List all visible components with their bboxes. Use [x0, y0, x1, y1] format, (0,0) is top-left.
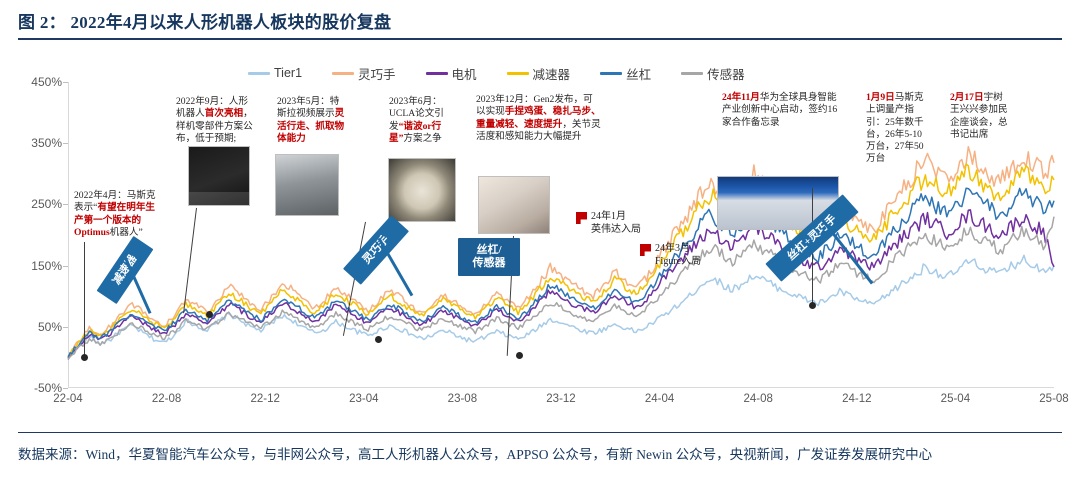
flag-label-line: Figure入局 [655, 255, 701, 268]
leader-dot-24-11 [809, 302, 816, 309]
photo-gen2-hand [478, 176, 550, 234]
annotation-highlight: 重量减轻、速度提升 [476, 119, 562, 130]
annotation-span: 华为全球具身智能 [760, 92, 837, 103]
annotation-line: 布，低于预期; [176, 133, 276, 145]
x-axis-tick-label: 25-08 [1039, 393, 1068, 405]
annotation-line: 重量减轻、速度提升，关节灵 [476, 119, 604, 131]
flag-label-line: 英伟达入局 [591, 223, 641, 236]
annotation-2023-12: 2023年12月：Gen2发布，可 以实现手捏鸡蛋、稳扎马步、 重量减轻、速度提… [476, 94, 604, 143]
y-axis-tick-label: 450% [31, 75, 62, 89]
legend-item-丝杠[interactable]: 丝杠 [600, 64, 651, 83]
annotation-highlight: Optimus [74, 227, 110, 238]
annotation-line: 引：25年数千 [866, 117, 936, 129]
flag-label-line: 24年1月 [591, 210, 641, 223]
y-axis-tick-mark [63, 388, 68, 389]
annotation-line: 2月17日宇树 [950, 92, 1030, 104]
x-axis-tick-label: 23-12 [546, 393, 575, 405]
annotation-highlight: 24年11月 [722, 92, 760, 103]
leader-line-2022-04 [84, 242, 85, 356]
annotation-line: 万台，27年50 [866, 141, 936, 153]
source-note: 数据来源：Wind，华夏智能汽车公众号，与非网公众号，高工人形机器人公众号，AP… [18, 443, 1062, 467]
legend-item-灵巧手[interactable]: 灵巧手 [332, 64, 396, 83]
series-line-电机 [68, 210, 1054, 360]
x-axis-tick-label: 22-04 [53, 393, 82, 405]
annotation-highlight: 有望在明年生 [97, 202, 155, 213]
annotation-highlight: 星” [389, 133, 403, 144]
annotation-line: 2022年4月：马斯克 [74, 190, 182, 202]
annotation-line: 家合作备忘录 [722, 117, 854, 129]
annotation-highlight: 手捏鸡蛋、稳扎马步、 [505, 106, 601, 117]
annotation-line: 样机零部件方案公 [176, 121, 276, 133]
y-axis-tick-label: 50% [38, 320, 62, 334]
annotation-line: Optimus机器人” [74, 227, 182, 239]
series-line-丝杠 [68, 188, 1054, 357]
annotation-line: 书记出席 [950, 129, 1030, 141]
page-title: 图 2： 2022年4月以来人形机器人板块的股价复盘 [18, 8, 1062, 33]
x-axis-tick-label: 22-12 [250, 393, 279, 405]
photo-caption-strip [189, 192, 249, 205]
callout-label-line: 传感器 [473, 257, 506, 270]
annotation-2022-04: 2022年4月：马斯克 表示“有望在明年生 产第一个版本的 Optimus机器人… [74, 190, 182, 239]
annotation-highlight: 1月9日 [866, 92, 895, 103]
annotation-span: 机器人 [176, 108, 205, 119]
y-axis-tick-label: 150% [31, 259, 62, 273]
annotation-highlight: 体能力 [277, 133, 373, 145]
leader-dot-2022-09 [206, 311, 213, 318]
annotation-line: 24年11月华为全球具身智能 [722, 92, 854, 104]
annotation-line: 发“谐波or行 [389, 121, 485, 133]
annotation-line: 机器人首次亮相， [176, 108, 276, 120]
annotation-line: 台，26年5-10 [866, 129, 936, 141]
photo-optimus-reveal [188, 146, 250, 206]
legend-label: 丝杠 [626, 64, 651, 83]
legend-swatch-icon [507, 72, 529, 75]
callout-screw-sensor: 丝杠/ 传感器 [458, 238, 520, 276]
annotation-highlight: 活行走、抓取物 [277, 121, 373, 133]
annotation-highlight: 产第一个版本的 [74, 215, 182, 227]
annotation-line: 斯拉视频展示灵 [277, 108, 373, 120]
flag-label: 24年3月 Figure入局 [655, 242, 701, 268]
annotation-highlight: 首次亮相 [205, 108, 243, 119]
annotation-span: 机器人” [110, 227, 143, 238]
annotation-span: 宇树 [984, 92, 1003, 103]
annotation-span: ，关节灵 [562, 119, 600, 130]
annotation-line: 1月9日马斯克 [866, 92, 936, 104]
chart-legend: Tier1灵巧手电机减速器丝杠传感器 [248, 64, 808, 82]
leader-dot-2022-04 [81, 354, 88, 361]
annotation-02-17-unitree: 2月17日宇树 王兴兴参加民 企座谈会，总 书记出席 [950, 92, 1030, 141]
legend-swatch-icon [600, 72, 622, 75]
annotation-line: 2023年6月： [389, 96, 485, 108]
flag-label: 24年1月 英伟达入局 [591, 210, 641, 236]
legend-label: 灵巧手 [358, 64, 396, 83]
legend-item-电机[interactable]: 电机 [426, 64, 477, 83]
x-axis-tick-label: 25-04 [941, 393, 970, 405]
x-axis-tick-label: 23-04 [349, 393, 378, 405]
figure-footer: 数据来源：Wind，华夏智能汽车公众号，与非网公众号，高工人形机器人公众号，AP… [18, 432, 1062, 467]
annotation-span: 发 [389, 121, 399, 132]
callout-label-line: 丝杠/ [476, 244, 501, 257]
photo-harmonic-gear [388, 158, 456, 222]
legend-swatch-icon [332, 72, 354, 75]
annotation-line: 星”方案之争 [389, 133, 485, 145]
legend-label: 电机 [452, 64, 477, 83]
legend-item-传感器[interactable]: 传感器 [681, 64, 745, 83]
annotation-line: 2022年9月：人形 [176, 96, 276, 108]
legend-label: 传感器 [707, 64, 745, 83]
x-axis-tick-label: 24-08 [743, 393, 772, 405]
y-axis-tick-label: 250% [31, 197, 62, 211]
annotation-line: 以实现手捏鸡蛋、稳扎马步、 [476, 106, 604, 118]
annotation-line: UCLA论文引 [389, 108, 485, 120]
annotation-2023-05: 2023年5月：特 斯拉视频展示灵 活行走、抓取物 体能力 [277, 96, 373, 145]
annotation-2022-09: 2022年9月：人形 机器人首次亮相， 样机零部件方案公 布，低于预期; [176, 96, 276, 145]
flag-label-line: 24年3月 [655, 242, 701, 255]
legend-item-Tier1[interactable]: Tier1 [248, 66, 302, 80]
annotation-span: 斯拉视频展示 [277, 108, 335, 119]
y-axis-tick-label: 350% [31, 136, 62, 150]
figure-title-bar: 图 2： 2022年4月以来人形机器人板块的股价复盘 [18, 8, 1062, 40]
legend-label: 减速器 [533, 64, 571, 83]
legend-label: Tier1 [274, 66, 302, 80]
legend-swatch-icon [681, 72, 703, 75]
annotation-2023-06: 2023年6月： UCLA论文引 发“谐波or行 星”方案之争 [389, 96, 485, 145]
annotation-span: 马斯克 [895, 92, 924, 103]
annotation-highlight: 2月17日 [950, 92, 984, 103]
x-axis-tick-label: 23-08 [448, 393, 477, 405]
legend-item-减速器[interactable]: 减速器 [507, 64, 571, 83]
annotation-span: 方案之争 [403, 133, 441, 144]
x-axis-tick-label: 24-12 [842, 393, 871, 405]
annotation-span: 表示“ [74, 202, 97, 213]
leader-dot-2023-06 [375, 336, 382, 343]
annotation-line: 王兴兴参加民 [950, 104, 1030, 116]
annotation-highlight: “谐波or行 [399, 121, 442, 132]
photo-tesla-bot-walk [275, 154, 339, 216]
annotation-24-11-huawei: 24年11月华为全球具身智能 产业创新中心启动，签约16 家合作备忘录 [722, 92, 854, 129]
annotation-line: 2023年5月：特 [277, 96, 373, 108]
annotation-line: 万台 [866, 153, 936, 165]
x-axis-tick-label: 24-04 [645, 393, 674, 405]
annotation-line: 企座谈会，总 [950, 117, 1030, 129]
annotation-01-09-musk: 1月9日马斯克 上调量产指 引：25年数千 台，26年5-10 万台，27年50… [866, 92, 936, 166]
annotation-line: 活度和感知能力大幅提升 [476, 131, 604, 143]
annotation-span: ， [243, 108, 253, 119]
x-axis-tick-label: 22-08 [152, 393, 181, 405]
leader-dot-2023-12 [516, 352, 523, 359]
legend-swatch-icon [248, 72, 270, 75]
annotation-line: 2023年12月：Gen2发布，可 [476, 94, 604, 106]
chart-container: Tier1灵巧手电机减速器丝杠传感器 -50%50%150%250%350%45… [0, 46, 1080, 426]
annotation-highlight: 灵 [335, 108, 345, 119]
annotation-span: 以实现 [476, 106, 505, 117]
annotation-line: 表示“有望在明年生 [74, 202, 182, 214]
annotation-line: 上调量产指 [866, 104, 936, 116]
legend-swatch-icon [426, 72, 448, 75]
annotation-line: 产业创新中心启动，签约16 [722, 104, 854, 116]
